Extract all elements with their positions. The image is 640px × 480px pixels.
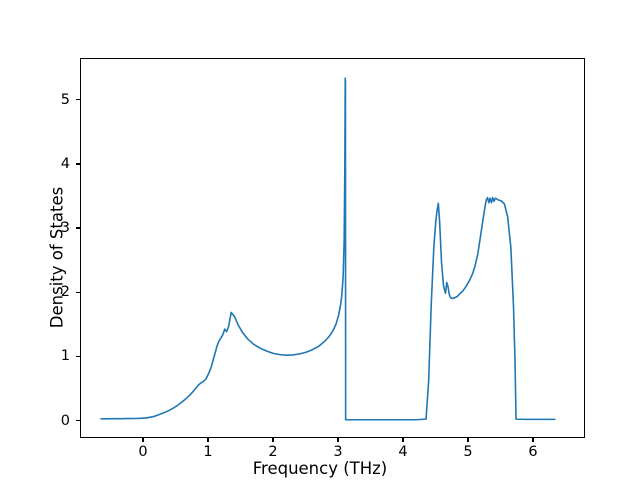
x-tick-mark <box>467 438 468 442</box>
x-tick-mark <box>402 438 403 442</box>
x-tick-label: 4 <box>398 444 407 460</box>
phonon-dos-figure: 0123456 012345 Frequency (THz) Density o… <box>0 0 640 480</box>
y-axis-label: Density of States <box>48 98 67 418</box>
x-tick-mark <box>207 438 208 442</box>
y-tick-mark <box>76 99 80 100</box>
y-tick-mark <box>76 227 80 228</box>
x-tick-mark <box>142 438 143 442</box>
x-tick-label: 3 <box>333 444 342 460</box>
dos-curve-svg <box>81 59 584 437</box>
y-tick-mark <box>76 163 80 164</box>
plot-axes-frame <box>80 58 585 438</box>
x-tick-mark <box>337 438 338 442</box>
x-tick-mark <box>272 438 273 442</box>
x-tick-label: 1 <box>203 444 212 460</box>
x-tick-label: 6 <box>528 444 537 460</box>
x-tick-mark <box>532 438 533 442</box>
dos-line-series <box>101 78 555 420</box>
x-axis-label: Frequency (THz) <box>0 459 640 478</box>
x-tick-label: 2 <box>268 444 277 460</box>
y-tick-mark <box>76 420 80 421</box>
x-tick-label: 5 <box>463 444 472 460</box>
y-tick-mark <box>76 292 80 293</box>
x-tick-label: 0 <box>138 444 147 460</box>
y-tick-mark <box>76 356 80 357</box>
